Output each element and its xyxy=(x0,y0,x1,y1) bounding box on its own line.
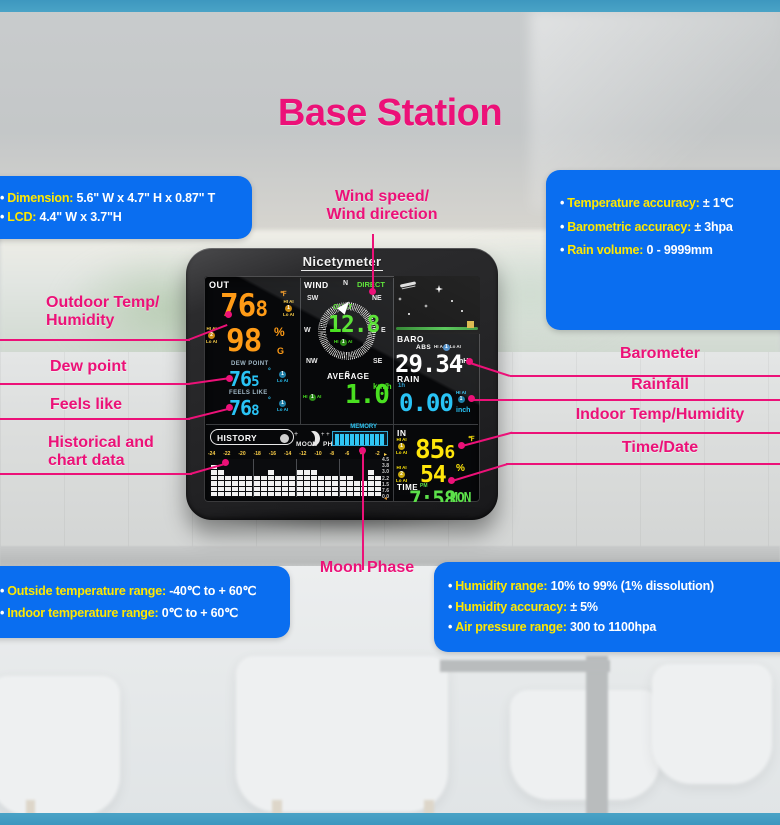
label-moon-phase: Moon Phase xyxy=(292,559,442,577)
list-item: •Dimension: 5.6" W x 4.7" H x 0.87" T xyxy=(0,192,238,205)
outdoor-temperature-unit: ℉ xyxy=(280,290,287,298)
history-chart-cell xyxy=(282,481,288,485)
wind-section-label: WIND xyxy=(304,280,329,290)
label-rainfall: Rainfall xyxy=(540,376,780,394)
history-chart-cell xyxy=(211,470,217,474)
dewpoint-hi-lo-tag: 1Lo AI xyxy=(277,371,288,384)
history-chart-cell xyxy=(368,481,374,485)
bullet-icon: • xyxy=(448,600,452,614)
house-icon xyxy=(467,321,474,328)
wind-northeast-label: NE xyxy=(372,295,382,302)
history-y-tick: 3.8 xyxy=(382,463,389,469)
history-chart-cell xyxy=(218,470,224,474)
history-chart-cell xyxy=(261,492,267,496)
list-item: •Temperature accuracy: ± 1℃ xyxy=(560,197,780,210)
history-chart-cell xyxy=(347,476,353,480)
history-chart-cell xyxy=(304,492,310,496)
connector-dewpoint xyxy=(0,383,190,385)
memory-indicator xyxy=(332,431,388,446)
memory-label: MEMORY xyxy=(350,424,377,430)
spec-value: 4.4" W x 3.7"H xyxy=(36,210,121,224)
history-chart-cell xyxy=(211,481,217,485)
wind-north-label: N xyxy=(343,280,348,287)
history-x-tick: -8 xyxy=(330,451,334,457)
history-y-tick: 2.2 xyxy=(382,476,389,482)
history-chart-cell xyxy=(218,481,224,485)
frame-top-border xyxy=(0,0,780,12)
dewpoint-unit: ° xyxy=(268,368,271,375)
history-chart-cell xyxy=(318,487,324,491)
panel-indoor: IN HI AI1Lo AI 856 ℉ HI AI2Lo AI 54 % TI… xyxy=(394,425,480,502)
indoor-temp-hi-lo-tag: HI AI1Lo AI xyxy=(396,437,407,455)
background-chair-right xyxy=(510,690,660,800)
spec-label: Rain volume: xyxy=(567,243,643,257)
outdoor-humidity-value: 98 xyxy=(226,323,261,359)
history-chart-cell xyxy=(304,487,310,491)
wind-west-label: W xyxy=(304,327,311,334)
history-chart-cell xyxy=(246,481,252,485)
history-chart-cell xyxy=(275,481,281,485)
wind-southwest-label: SW xyxy=(307,295,318,302)
spec-value: 300 to 1100hpa xyxy=(567,620,656,634)
connector-dot-dewpoint xyxy=(226,375,233,382)
history-chart-cell xyxy=(297,481,303,485)
label-historical-chart-data: Historical and chart data xyxy=(48,434,154,470)
bullet-icon: • xyxy=(0,584,4,598)
history-prev-arrow-icon[interactable]: ◂ xyxy=(384,495,387,502)
background-chair-far-right xyxy=(652,664,772,784)
connector-dot-indoor xyxy=(458,442,465,449)
history-chart-cell xyxy=(311,487,317,491)
callout-dimensions: •Dimension: 5.6" W x 4.7" H x 0.87" T •L… xyxy=(0,176,252,239)
list-item: •Outside temperature range: -40℃ to + 60… xyxy=(0,585,276,598)
history-chart-cell xyxy=(311,470,317,474)
history-chart-cell xyxy=(218,492,224,496)
history-chart-cell xyxy=(311,476,317,480)
history-chart-cell xyxy=(211,492,217,496)
moon-phase-icon xyxy=(307,431,320,446)
wind-unit: km/h xyxy=(373,382,392,391)
page-title: Base Station xyxy=(0,92,780,135)
history-x-tick: -14 xyxy=(284,451,291,457)
connector-rainfall xyxy=(506,399,780,401)
history-x-tick: -12 xyxy=(299,451,306,457)
history-y-tick: 1.5 xyxy=(382,482,389,488)
panel-outdoor: OUT 768 ℉ HI AI1Lo AI HI AI2Lo AI 98 % G… xyxy=(204,276,300,424)
history-chart-cell xyxy=(289,492,295,496)
history-chart-cell xyxy=(246,487,252,491)
label-dew-point: Dew point xyxy=(50,358,126,376)
history-chart-cell xyxy=(232,492,238,496)
outdoor-temp-hi-lo-tag: HI AI1Lo AI xyxy=(283,299,294,317)
history-chart-cell xyxy=(232,481,238,485)
bullet-icon: • xyxy=(448,579,452,593)
history-chart-cell xyxy=(347,487,353,491)
spec-label: Temperature accuracy: xyxy=(567,196,699,210)
history-chart-cell xyxy=(325,492,331,496)
history-chart-cell xyxy=(254,476,260,480)
connector-feelslike xyxy=(0,418,190,420)
history-chart-cell xyxy=(275,476,281,480)
connector-time xyxy=(506,463,780,465)
history-chart-cell xyxy=(268,481,274,485)
spec-label: Indoor temperature range: xyxy=(7,606,158,620)
list-item: •Indoor temperature range: 0℃ to + 60℃ xyxy=(0,607,276,620)
spec-label: LCD: xyxy=(7,210,36,224)
star-icon xyxy=(408,313,410,315)
history-chart-cell xyxy=(347,481,353,485)
connector-history xyxy=(0,473,192,475)
history-chart-cell xyxy=(297,492,303,496)
outdoor-humidity-sub-unit: G xyxy=(277,346,284,356)
history-chart-cell xyxy=(225,481,231,485)
dewpoint-value: 765 xyxy=(229,367,259,391)
history-chart-cell xyxy=(318,476,324,480)
spec-value: 0℃ to + 60℃ xyxy=(158,606,238,620)
history-chart-cell xyxy=(332,487,338,491)
history-chart-cell xyxy=(297,487,303,491)
history-x-tick: -6 xyxy=(345,451,349,457)
label-time-date: Time/Date xyxy=(540,439,780,457)
list-item: •Humidity accuracy: ± 5% xyxy=(448,601,780,614)
history-chart-cell xyxy=(354,492,360,496)
feelslike-value: 768 xyxy=(229,396,259,420)
feelslike-hi-lo-tag: 1Lo AI xyxy=(277,400,288,413)
history-chart-cell xyxy=(289,476,295,480)
history-chart-cell xyxy=(311,492,317,496)
indoor-temperature-value: 856 xyxy=(415,435,454,465)
history-x-tick: -10 xyxy=(314,451,321,457)
memory-fill-bar xyxy=(335,434,385,445)
history-chart-cell xyxy=(225,492,231,496)
label-outdoor-temp-humidity: Outdoor Temp/ Humidity xyxy=(46,294,159,330)
star-icon xyxy=(451,300,453,302)
history-chart-cell xyxy=(332,476,338,480)
callout-humidity: •Humidity range: 10% to 99% (1% dissolut… xyxy=(434,562,780,652)
history-chart-cell xyxy=(282,487,288,491)
spec-value: -40℃ to + 60℃ xyxy=(166,584,256,598)
history-chart-cell xyxy=(304,481,310,485)
history-chart-cell xyxy=(340,481,346,485)
wind-northwest-label: NW xyxy=(306,358,318,365)
background-table-leg xyxy=(586,656,608,816)
history-chart-cell xyxy=(368,492,374,496)
history-grid-line xyxy=(253,459,254,497)
history-chart-cell xyxy=(268,470,274,474)
history-chart-cell xyxy=(304,476,310,480)
callout-accuracy: •Temperature accuracy: ± 1℃ •Barometric … xyxy=(546,170,780,330)
wind-average-hi-lo-tag: HI 1 AI xyxy=(303,394,321,401)
history-knob-icon[interactable] xyxy=(280,434,289,443)
star-icon xyxy=(435,285,443,293)
history-chart-cell xyxy=(239,487,245,491)
time-value: 7:58 xyxy=(409,487,456,502)
history-chart-cell xyxy=(218,476,224,480)
spec-value: ± 5% xyxy=(567,600,598,614)
panel-history: HISTORY MOON PHASE + + + MEMORY -24-22-2… xyxy=(204,425,393,502)
history-y-axis: 4.53.83.02.21.57.60.0 xyxy=(375,457,389,499)
list-item: •LCD: 4.4" W x 3.7"H xyxy=(0,211,238,224)
moon-dots-icon: + + xyxy=(321,432,330,438)
callout-temperature-range: •Outside temperature range: -40℃ to + 60… xyxy=(0,566,290,638)
connector-wind xyxy=(372,234,374,294)
background-chair-center xyxy=(236,656,448,812)
weekday-value: MON xyxy=(450,491,470,502)
spec-label: Air pressure range: xyxy=(455,620,567,634)
history-chart-cell xyxy=(268,487,274,491)
history-x-tick: -22 xyxy=(223,451,230,457)
connector-dot-time xyxy=(448,477,455,484)
label-feels-like: Feels like xyxy=(50,396,122,414)
spec-label: Humidity range: xyxy=(455,579,547,593)
connector-dot-wind xyxy=(369,288,376,295)
history-chart-cell xyxy=(225,487,231,491)
history-chart-cell xyxy=(254,481,260,485)
history-y-tick: 3.0 xyxy=(382,469,389,475)
connector-outdoor xyxy=(0,339,190,341)
history-chart-cell xyxy=(254,492,260,496)
history-chart-cell xyxy=(275,487,281,491)
history-chart-cell xyxy=(218,487,224,491)
history-x-tick: -16 xyxy=(269,451,276,457)
history-chart-cell xyxy=(282,476,288,480)
history-chart-cell xyxy=(325,481,331,485)
history-chart-cell xyxy=(275,492,281,496)
bullet-icon: • xyxy=(0,191,4,205)
history-chart-cell xyxy=(340,476,346,480)
spec-value: 0 - 9999mm xyxy=(643,243,712,257)
rain-unit: inch xyxy=(456,407,470,414)
rain-value: 0.00 xyxy=(399,389,453,417)
connector-dot-rainfall xyxy=(468,395,475,402)
history-button[interactable]: HISTORY xyxy=(210,429,294,445)
brand-logo: Nicetymeter xyxy=(186,254,498,269)
history-chart-cell xyxy=(289,481,295,485)
spec-label: Dimension: xyxy=(7,191,73,205)
star-icon xyxy=(461,310,463,312)
history-chart-cell xyxy=(368,487,374,491)
star-icon xyxy=(424,304,428,308)
history-chart-cell xyxy=(332,492,338,496)
ground-line xyxy=(396,327,478,330)
outdoor-temperature-value: 768 xyxy=(220,288,267,324)
wind-gust-hi-lo-tag: HI 1 AI xyxy=(334,339,352,346)
history-y-tick: 7.6 xyxy=(382,488,389,494)
history-chart-cell xyxy=(239,481,245,485)
bullet-icon: • xyxy=(560,196,564,210)
history-x-tick: -24 xyxy=(208,451,215,457)
history-chart-cell xyxy=(340,487,346,491)
connector-dot-barometer xyxy=(466,358,473,365)
panel-wind: WIND N DIRECT NE E SE S SW W NW GUST 12.… xyxy=(301,276,393,424)
frame-bottom-border xyxy=(0,813,780,825)
history-next-arrow-icon[interactable]: ▸ xyxy=(384,451,387,458)
history-chart-cell xyxy=(282,492,288,496)
rain-hi-lo-tag: HI AI1 xyxy=(456,390,466,403)
history-chart-cell xyxy=(239,476,245,480)
history-chart-cell xyxy=(318,481,324,485)
history-grid-line xyxy=(339,459,340,497)
label-barometer: Barometer xyxy=(540,345,780,363)
background-table-rail xyxy=(440,660,610,672)
spec-label: Barometric accuracy: xyxy=(567,220,691,234)
lcd-display: OUT 768 ℉ HI AI1Lo AI HI AI2Lo AI 98 % G… xyxy=(204,276,480,502)
spec-value: ± 1℃ xyxy=(700,196,734,210)
connector-indoor xyxy=(510,432,780,434)
star-icon xyxy=(398,297,402,301)
history-chart-cell xyxy=(340,492,346,496)
history-chart-cell xyxy=(261,487,267,491)
history-chart-cell xyxy=(268,492,274,496)
history-chart-cell xyxy=(225,476,231,480)
history-chart-cell xyxy=(232,476,238,480)
history-chart-cell xyxy=(354,487,360,491)
panel-barometer: BARO ABS HI A1Lo AI 29.34 inHg RAIN 1h 0… xyxy=(394,276,480,424)
history-chart-cell xyxy=(368,470,374,474)
history-chart-cell xyxy=(232,487,238,491)
history-chart-cell xyxy=(332,481,338,485)
feelslike-unit: ° xyxy=(268,397,271,404)
cloud-icon xyxy=(400,281,416,287)
bullet-icon: • xyxy=(0,606,4,620)
indoor-humidity-unit: % xyxy=(456,463,465,474)
connector-moonphase xyxy=(362,450,364,570)
bullet-icon: • xyxy=(448,620,452,634)
barometer-section-label: BARO xyxy=(397,334,424,344)
history-chart-cell xyxy=(261,481,267,485)
bullet-icon: • xyxy=(560,220,564,234)
history-chart-cell xyxy=(354,481,360,485)
label-indoor-temp-humidity: Indoor Temp/Humidity xyxy=(540,406,780,424)
spec-value: ± 3hpa xyxy=(691,220,733,234)
spec-value: 5.6" W x 4.7" H x 0.87" T xyxy=(73,191,215,205)
spec-label: Humidity accuracy: xyxy=(455,600,567,614)
list-item: •Rain volume: 0 - 9999mm xyxy=(560,244,780,257)
spec-value: 10% to 99% (1% dissolution) xyxy=(547,579,714,593)
history-chart-cell xyxy=(246,492,252,496)
list-item: •Barometric accuracy: ± 3hpa xyxy=(560,221,780,234)
connector-dot-outdoor xyxy=(225,311,232,318)
history-chart-cell xyxy=(325,487,331,491)
label-wind-speed-direction: Wind speed/ Wind direction xyxy=(312,188,452,224)
history-chart-cell xyxy=(318,492,324,496)
list-item: •Air pressure range: 300 to 1100hpa xyxy=(448,621,780,634)
wind-gust-value: 12.8 xyxy=(328,312,379,338)
history-chart-cell xyxy=(289,487,295,491)
indoor-humidity-hi-lo-tag: HI AI2Lo AI xyxy=(396,465,407,483)
bullet-icon: • xyxy=(0,210,4,224)
history-x-tick: -18 xyxy=(254,451,261,457)
background-chair-left xyxy=(0,676,120,816)
history-chart-cell xyxy=(239,492,245,496)
history-chart-cell xyxy=(297,470,303,474)
wind-southeast-label: SE xyxy=(373,358,382,365)
history-chart-cell xyxy=(211,487,217,491)
history-label: HISTORY xyxy=(217,433,257,443)
history-chart xyxy=(210,459,382,497)
connector-dot-moonphase xyxy=(359,447,366,454)
connector-dot-history xyxy=(222,459,229,466)
history-chart-cell xyxy=(297,476,303,480)
history-chart-cell xyxy=(347,492,353,496)
outdoor-humidity-unit: % xyxy=(274,325,285,339)
connector-dot-feelslike xyxy=(226,404,233,411)
history-chart-cell xyxy=(211,476,217,480)
history-chart-cell xyxy=(304,470,310,474)
history-chart-cell xyxy=(268,476,274,480)
list-item: •Humidity range: 10% to 99% (1% dissolut… xyxy=(448,580,780,593)
history-chart-cell xyxy=(368,476,374,480)
connector-rainfall-diag xyxy=(472,399,508,401)
history-chart-cell xyxy=(311,481,317,485)
spec-label: Outside temperature range: xyxy=(7,584,166,598)
history-chart-cell xyxy=(254,487,260,491)
history-chart-cell xyxy=(325,476,331,480)
history-x-tick: -20 xyxy=(238,451,245,457)
weather-sky-animation xyxy=(394,276,480,334)
history-chart-cell xyxy=(261,476,267,480)
bullet-icon: • xyxy=(560,243,564,257)
history-grid-line xyxy=(296,459,297,497)
history-chart-cell xyxy=(246,476,252,480)
moon-plus-icon: + xyxy=(294,431,298,438)
wind-east-label: E xyxy=(381,327,386,334)
